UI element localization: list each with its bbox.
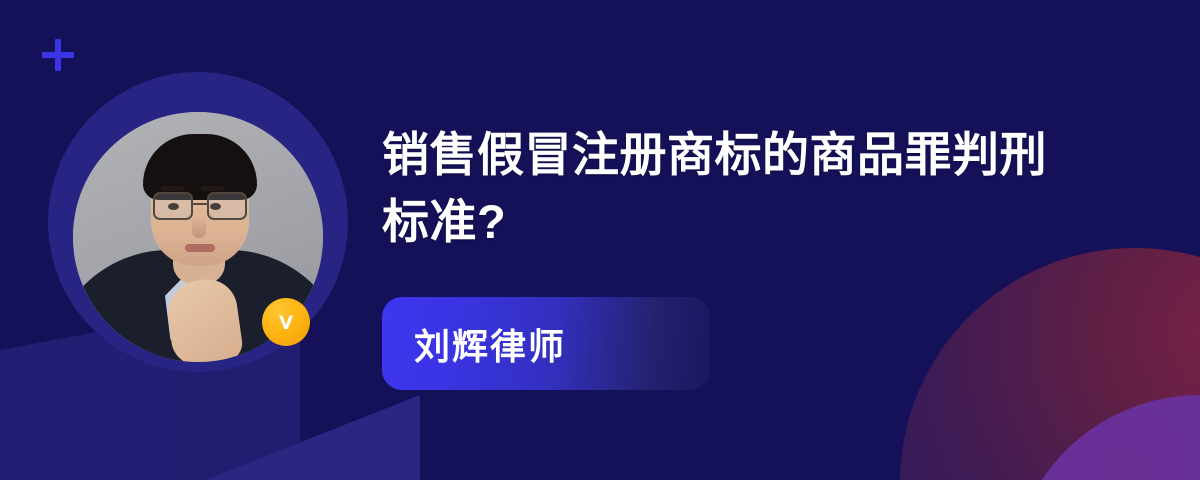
lawyer-name-button[interactable]: 刘辉律师 — [382, 297, 710, 390]
avatar[interactable] — [48, 72, 348, 372]
portrait-eyebrow-right — [201, 186, 225, 191]
page-title: 销售假冒注册商标的商品罪判刑标准? — [382, 122, 1072, 255]
verified-check-icon — [262, 298, 310, 346]
portrait-glasses-bridge — [193, 203, 209, 205]
portrait-lens-left — [153, 192, 193, 220]
plus-icon — [42, 39, 74, 71]
portrait-lens-right — [207, 192, 247, 220]
portrait-nose — [192, 216, 206, 238]
headline-block: 销售假冒注册商标的商品罪判刑标准? — [382, 122, 1082, 255]
decorative-circle-purple — [1010, 395, 1200, 480]
portrait-eyebrow-left — [161, 186, 185, 191]
lawyer-question-banner: 销售假冒注册商标的商品罪判刑标准? 刘辉律师 — [0, 0, 1200, 480]
decorative-triangle — [180, 395, 420, 480]
plus-icon-vertical-bar — [55, 39, 61, 71]
portrait-mouth — [185, 244, 215, 252]
decorative-circle-crimson — [900, 248, 1200, 480]
